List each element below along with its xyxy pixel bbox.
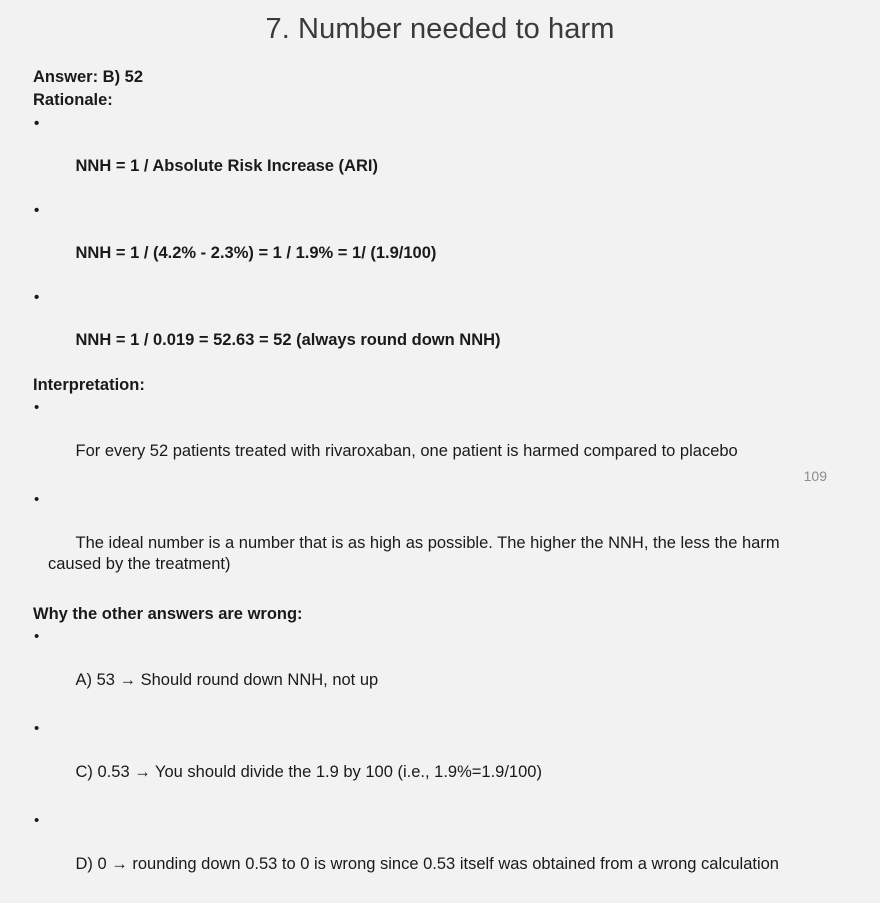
list-item-label: A) 53 → Should round down NNH, not up — [76, 671, 379, 689]
list-item-label: D) 0 → rounding down 0.53 to 0 is wrong … — [76, 855, 779, 873]
list-item: • A) 53 → Should round down NNH, not up — [33, 627, 833, 712]
list-item: • C) 0.53 → You should divide the 1.9 by… — [33, 719, 833, 804]
list-item-label: NNH = 1 / 0.019 = 52.63 = 52 (always rou… — [76, 331, 501, 349]
list-item: • NNH = 1 / 0.019 = 52.63 = 52 (always r… — [33, 288, 833, 373]
list-item-label: NNH = 1 / (4.2% - 2.3%) = 1 / 1.9% = 1/ … — [76, 244, 437, 262]
bullet-icon: • — [34, 811, 39, 830]
bullet-icon: • — [34, 114, 39, 133]
wrong-answers-heading: Why the other answers are wrong: — [33, 604, 833, 625]
list-item: • D) 0 → rounding down 0.53 to 0 is wron… — [33, 811, 833, 896]
bullet-icon: • — [34, 201, 39, 220]
bullet-icon: • — [34, 398, 39, 417]
list-item-label: The ideal number is a number that is as … — [48, 534, 784, 573]
rationale-heading: Rationale: — [33, 90, 833, 111]
list-item-label: NNH = 1 / Absolute Risk Increase (ARI) — [76, 157, 378, 175]
list-item: • NNH = 1 / (4.2% - 2.3%) = 1 / 1.9% = 1… — [33, 201, 833, 286]
list-item-label: C) 0.53 → You should divide the 1.9 by 1… — [76, 763, 542, 781]
slide-canvas: 7. Number needed to harm Answer: B) 52 R… — [0, 0, 880, 496]
list-item: • The ideal number is a number that is a… — [33, 490, 833, 596]
list-item-label: For every 52 patients treated with rivar… — [76, 442, 738, 460]
slide-body: Answer: B) 52 Rationale: • NNH = 1 / Abs… — [33, 67, 833, 903]
page-title: 7. Number needed to harm — [0, 12, 880, 47]
bullet-icon: • — [34, 288, 39, 307]
page-number: 109 — [804, 468, 827, 484]
list-item: • NNH = 1 / Absolute Risk Increase (ARI) — [33, 114, 833, 199]
answer-line: Answer: B) 52 — [33, 67, 833, 88]
bullet-icon: • — [34, 490, 39, 509]
interpretation-heading: Interpretation: — [33, 375, 833, 396]
bullet-icon: • — [34, 719, 39, 738]
bullet-icon: • — [34, 627, 39, 646]
list-item: • For every 52 patients treated with riv… — [33, 398, 833, 483]
